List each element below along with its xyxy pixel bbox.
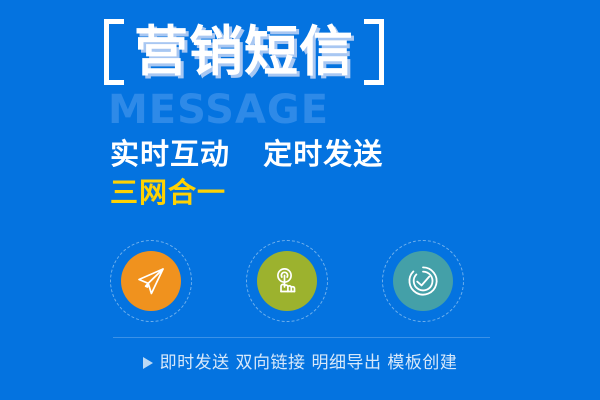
watermark-message-text: MESSAGE	[108, 88, 329, 132]
footer-divider	[113, 337, 490, 338]
feature-item-send[interactable]	[110, 240, 192, 322]
page-title: 营销短信	[124, 19, 364, 85]
play-triangle-icon	[143, 357, 153, 369]
marketing-sms-banner: 营销短信 MESSAGE 实时互动 定时发送 三网合一	[0, 0, 600, 400]
clock-check-icon	[393, 251, 453, 311]
footer-feature-text: 即时发送 双向链接 明细导出 模板创建	[160, 351, 458, 375]
bracket-left-icon	[104, 19, 124, 85]
banner-title-row: 营销短信	[104, 16, 384, 88]
footer-feature-row: 即时发送 双向链接 明细导出 模板创建	[0, 351, 600, 375]
feature-item-schedule[interactable]	[382, 240, 464, 322]
tap-signal-icon	[257, 251, 317, 311]
subtitle-primary: 实时互动 定时发送	[110, 136, 383, 172]
subtitle-accent: 三网合一	[110, 176, 226, 210]
bracket-right-icon	[364, 19, 384, 85]
paper-plane-icon	[121, 251, 181, 311]
feature-icon-row	[110, 238, 510, 324]
feature-item-interaction[interactable]	[246, 240, 328, 322]
